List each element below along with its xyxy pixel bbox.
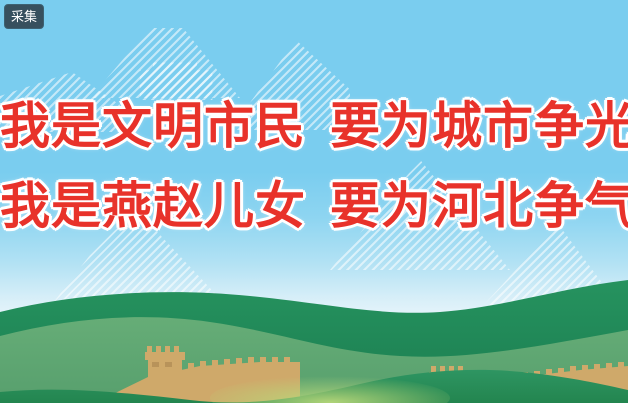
slogan-line-1: 我是文明市民要为城市争光 — [0, 101, 628, 151]
promotional-banner: 我是文明市民要为城市争光 我是燕赵儿女要为河北争气 采集 — [0, 0, 628, 403]
capture-button[interactable]: 采集 — [4, 4, 44, 29]
slogan-line-2-left: 我是燕赵儿女 — [0, 177, 306, 235]
slogan-line-1-left: 我是文明市民 — [0, 97, 306, 155]
slogan-line-1-right: 要为城市争光 — [330, 97, 628, 155]
slogan-line-2: 我是燕赵儿女要为河北争气 — [0, 181, 628, 231]
slogan-line-2-right: 要为河北争气 — [330, 177, 628, 235]
